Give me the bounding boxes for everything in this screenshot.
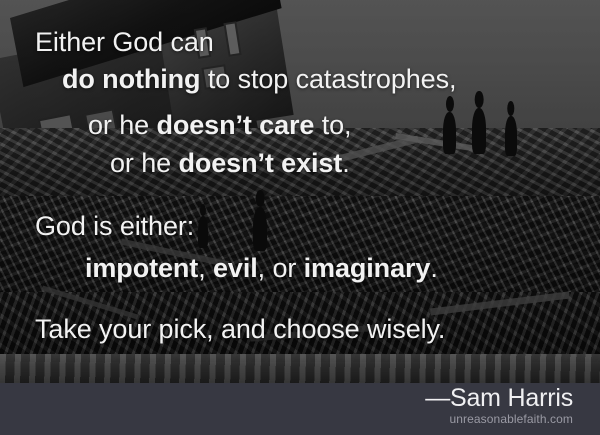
quote-line-4: or he doesn’t exist. xyxy=(110,148,350,179)
quote-line-6: impotent, evil, or imaginary. xyxy=(85,253,438,284)
quote-line-2: do nothing to stop catastrophes, xyxy=(62,64,456,95)
quote-line-1: Either God can xyxy=(35,27,214,58)
quote-line-3: or he doesn’t care to, xyxy=(88,110,351,141)
quote-line-5: God is either: xyxy=(35,211,194,242)
author-name: —Sam Harris xyxy=(425,384,573,413)
quote-line-7: Take your pick, and choose wisely. xyxy=(35,314,445,345)
source-website: unreasonablefaith.com xyxy=(449,412,573,426)
attribution-bar: —Sam Harris unreasonablefaith.com xyxy=(0,383,600,435)
quote-poster: Either God can do nothing to stop catast… xyxy=(0,0,600,435)
quote-text-block: Either God can do nothing to stop catast… xyxy=(0,0,600,383)
